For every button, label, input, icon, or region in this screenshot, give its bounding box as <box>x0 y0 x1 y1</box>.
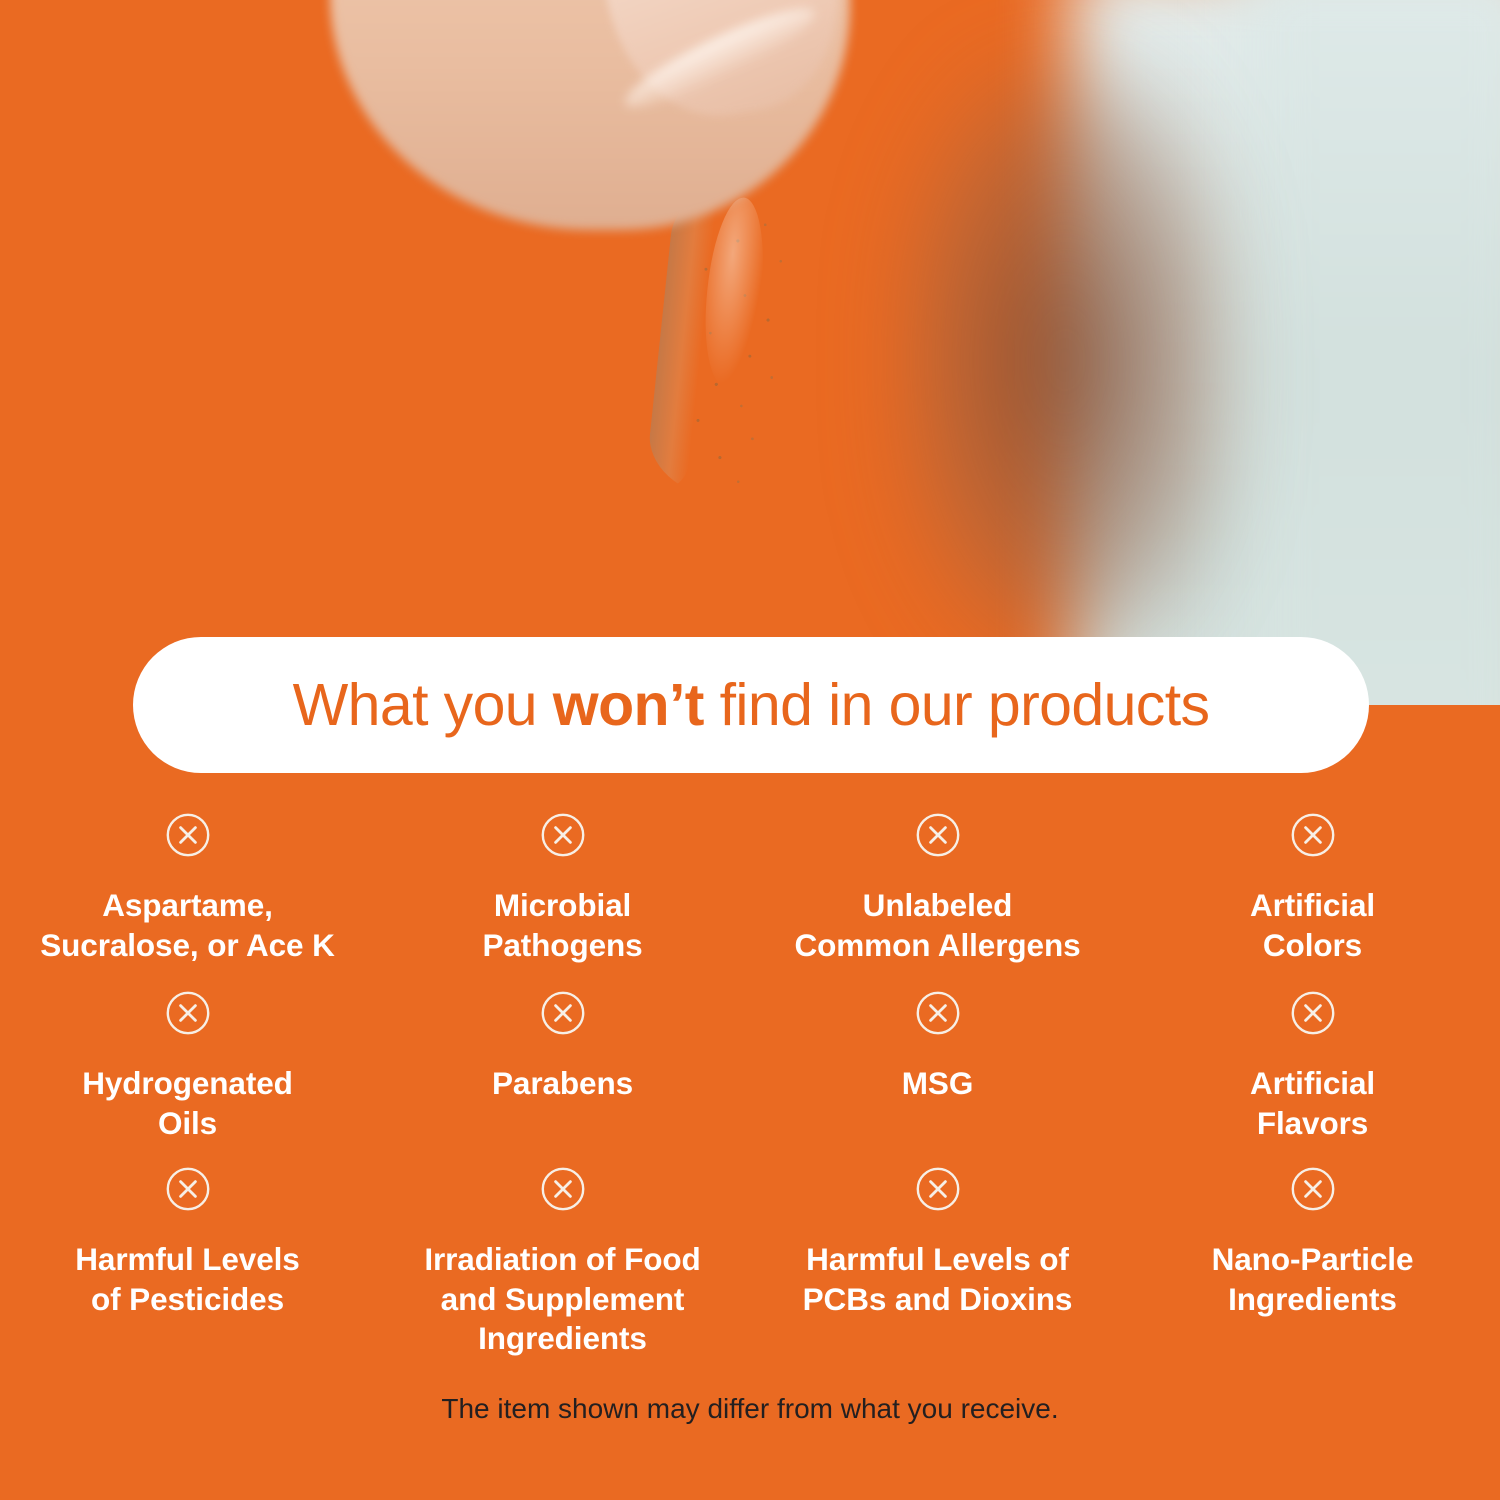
exclusion-label: Harmful Levels of PCBs and Dioxins <box>803 1240 1073 1319</box>
hand-holding-tablet-photo <box>0 0 1500 712</box>
exclusion-label: Parabens <box>492 1064 633 1104</box>
disclaimer-text: The item shown may differ from what you … <box>0 1392 1500 1426</box>
exclusions-grid: Aspartame, Sucralose, or Ace K Microbial… <box>0 812 1500 1366</box>
exclusion-label: Hydrogenated Oils <box>82 1064 293 1143</box>
exclusion-item: Aspartame, Sucralose, or Ace K <box>0 812 375 990</box>
exclusions-row-1: Aspartame, Sucralose, or Ace K Microbial… <box>0 812 1500 990</box>
exclusion-item: Hydrogenated Oils <box>0 990 375 1166</box>
exclusion-label: Unlabeled Common Allergens <box>794 886 1080 965</box>
exclusion-label: Aspartame, Sucralose, or Ace K <box>40 886 335 965</box>
exclusion-item: MSG <box>750 990 1125 1166</box>
circle-x-icon <box>1290 990 1336 1036</box>
exclusions-row-3: Harmful Levels of Pesticides Irradiation… <box>0 1166 1500 1366</box>
circle-x-icon <box>165 990 211 1036</box>
exclusion-label: Artificial Flavors <box>1250 1064 1375 1143</box>
exclusion-item: Nano-Particle Ingredients <box>1125 1166 1500 1366</box>
circle-x-icon <box>915 990 961 1036</box>
exclusion-label: Artificial Colors <box>1250 886 1375 965</box>
circle-x-icon <box>165 1166 211 1212</box>
exclusions-row-2: Hydrogenated Oils Parabens <box>0 990 1500 1166</box>
exclusion-item: Harmful Levels of PCBs and Dioxins <box>750 1166 1125 1366</box>
circle-x-icon <box>915 812 961 858</box>
circle-x-icon <box>165 812 211 858</box>
circle-x-icon <box>540 812 586 858</box>
headline-card: What you won’t find in our products <box>133 637 1369 773</box>
headline-suffix: find in our products <box>704 672 1210 738</box>
exclusion-label: Microbial Pathogens <box>482 886 642 965</box>
headline-prefix: What you <box>293 672 553 738</box>
exclusion-label: Nano-Particle Ingredients <box>1212 1240 1414 1319</box>
exclusion-item: Harmful Levels of Pesticides <box>0 1166 375 1366</box>
circle-x-icon <box>1290 1166 1336 1212</box>
circle-x-icon <box>1290 812 1336 858</box>
exclusion-item: Unlabeled Common Allergens <box>750 812 1125 990</box>
circle-x-icon <box>540 990 586 1036</box>
exclusion-label: Irradiation of Food and Supplement Ingre… <box>424 1240 700 1359</box>
headline-emphasis: won’t <box>553 672 704 738</box>
exclusion-label: MSG <box>902 1064 973 1104</box>
page-title: What you won’t find in our products <box>293 676 1210 735</box>
exclusion-label: Harmful Levels of Pesticides <box>75 1240 299 1319</box>
circle-x-icon <box>540 1166 586 1212</box>
exclusion-item: Parabens <box>375 990 750 1166</box>
product-claims-infographic: What you won’t find in our products Aspa… <box>0 0 1500 1500</box>
exclusion-item: Artificial Colors <box>1125 812 1500 990</box>
exclusion-item: Microbial Pathogens <box>375 812 750 990</box>
circle-x-icon <box>915 1166 961 1212</box>
exclusion-item: Artificial Flavors <box>1125 990 1500 1166</box>
exclusion-item: Irradiation of Food and Supplement Ingre… <box>375 1166 750 1366</box>
